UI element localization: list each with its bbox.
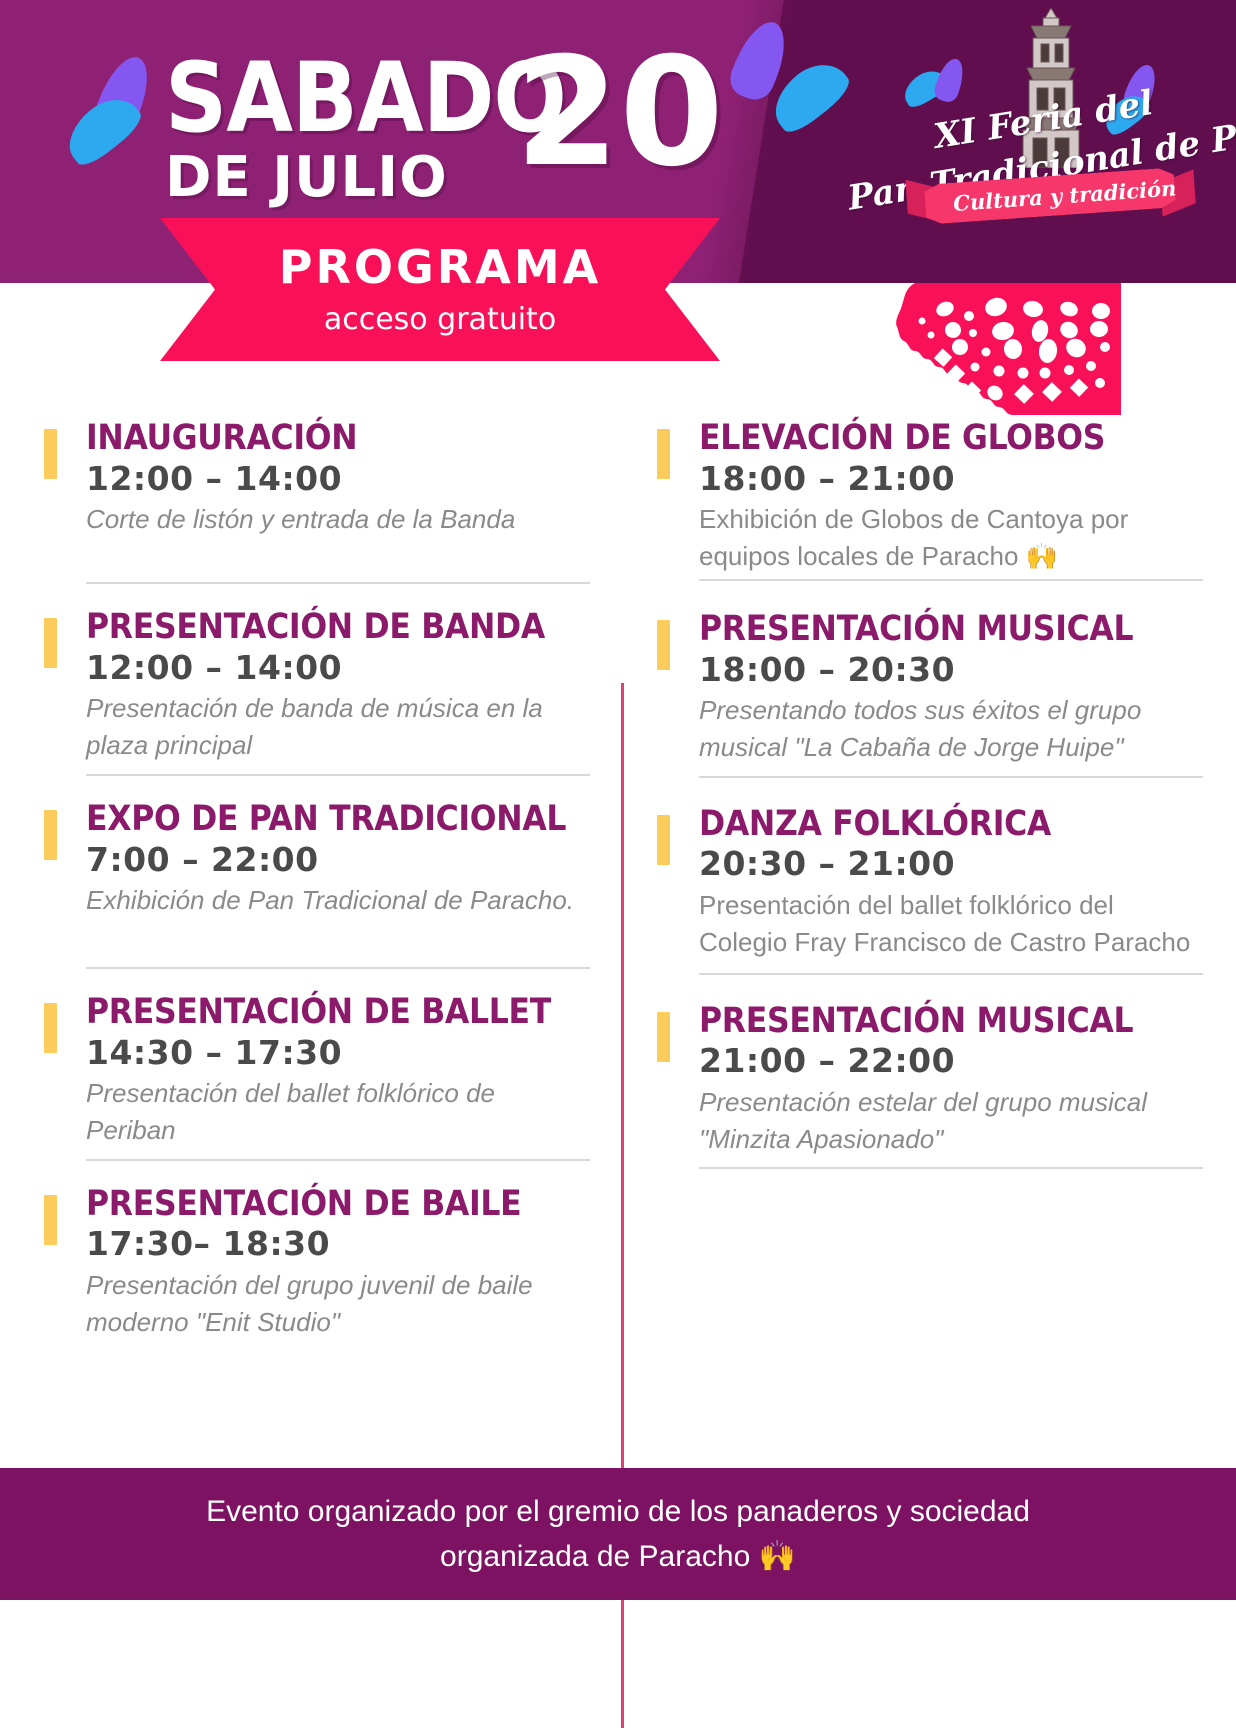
event-title: DANZA FOLKLÓRICA	[699, 806, 1203, 843]
schedule-item[interactable]: PRESENTACIÓN DE BALLET 14:30 – 17:30 Pre…	[38, 994, 590, 1149]
papel-picado-decoration	[893, 283, 1121, 415]
event-description: Presentación del grupo juvenil de baile …	[86, 1267, 584, 1341]
fair-logo: XI Feria del Pan Tradicional de Paracho …	[885, 8, 1215, 233]
accent-bar-icon	[657, 815, 670, 865]
item-separator	[86, 774, 590, 776]
schedule-board: INAUGURACIÓN 12:00 – 14:00 Corte de list…	[0, 283, 1236, 1468]
event-title: PRESENTACIÓN DE BALLET	[86, 994, 590, 1031]
accent-bar-icon	[44, 1003, 57, 1053]
schedule-column-right: ELEVACIÓN DE GLOBOS 18:00 – 21:00 Exhibi…	[651, 420, 1203, 1169]
schedule-item[interactable]: PRESENTACIÓN MUSICAL 18:00 – 20:30 Prese…	[651, 611, 1203, 766]
schedule-item[interactable]: PRESENTACIÓN DE BAILE 17:30– 18:30 Prese…	[38, 1186, 590, 1341]
event-description: Exhibición de Globos de Cantoya por equi…	[699, 501, 1197, 575]
item-separator	[86, 582, 590, 584]
item-separator	[699, 776, 1203, 778]
date-weekday: SABADO	[165, 50, 566, 146]
event-time: 12:00 – 14:00	[86, 461, 590, 497]
event-description: Exhibición de Pan Tradicional de Paracho…	[86, 882, 584, 919]
event-title: PRESENTACIÓN DE BAILE	[86, 1186, 590, 1223]
schedule-item[interactable]: INAUGURACIÓN 12:00 – 14:00 Corte de list…	[38, 420, 590, 538]
event-title: PRESENTACIÓN MUSICAL	[699, 611, 1203, 648]
event-time: 7:00 – 22:00	[86, 842, 590, 878]
programa-title: PROGRAMA	[160, 240, 720, 294]
accent-bar-icon	[44, 429, 57, 479]
event-title: EXPO DE PAN TRADICIONAL	[86, 801, 590, 838]
schedule-item[interactable]: EXPO DE PAN TRADICIONAL 7:00 – 22:00 Exh…	[38, 801, 590, 919]
event-description: Presentación de banda de música en la pl…	[86, 690, 584, 764]
event-date: SABADO 20 DE JULIO	[165, 30, 745, 210]
item-separator	[699, 1167, 1203, 1169]
event-time: 20:30 – 21:00	[699, 846, 1203, 882]
event-description: Presentación estelar del grupo musical "…	[699, 1084, 1197, 1158]
accent-bar-icon	[44, 810, 57, 860]
schedule-item[interactable]: ELEVACIÓN DE GLOBOS 18:00 – 21:00 Exhibi…	[651, 420, 1203, 575]
event-title: PRESENTACIÓN MUSICAL	[699, 1003, 1203, 1040]
event-time: 17:30– 18:30	[86, 1226, 590, 1262]
event-description: Presentación del ballet folklórico del C…	[699, 887, 1197, 961]
accent-bar-icon	[657, 1012, 670, 1062]
event-description: Presentando todos sus éxitos el grupo mu…	[699, 692, 1197, 766]
schedule-item[interactable]: DANZA FOLKLÓRICA 20:30 – 21:00 Presentac…	[651, 806, 1203, 961]
event-description: Presentación del ballet folklórico de Pe…	[86, 1075, 584, 1149]
item-separator	[699, 973, 1203, 975]
item-separator	[86, 967, 590, 969]
item-separator	[699, 579, 1203, 581]
event-description: Corte de listón y entrada de la Banda	[86, 501, 584, 538]
event-time: 18:00 – 21:00	[699, 461, 1203, 497]
event-time: 14:30 – 17:30	[86, 1035, 590, 1071]
event-time: 18:00 – 20:30	[699, 652, 1203, 688]
schedule-item[interactable]: PRESENTACIÓN MUSICAL 21:00 – 22:00 Prese…	[651, 1003, 1203, 1158]
event-title: ELEVACIÓN DE GLOBOS	[699, 420, 1203, 457]
accent-bar-icon	[657, 620, 670, 670]
event-title: PRESENTACIÓN DE BANDA	[86, 609, 590, 646]
programa-subtitle: acceso gratuito	[160, 302, 720, 337]
event-title: INAUGURACIÓN	[86, 420, 590, 457]
schedule-item[interactable]: PRESENTACIÓN DE BANDA 12:00 – 14:00 Pres…	[38, 609, 590, 764]
item-separator	[86, 1159, 590, 1161]
accent-bar-icon	[44, 618, 57, 668]
accent-bar-icon	[657, 429, 670, 479]
date-month: DE JULIO	[165, 150, 448, 206]
accent-bar-icon	[44, 1195, 57, 1245]
date-day-number: 20	[515, 38, 724, 188]
event-time: 12:00 – 14:00	[86, 650, 590, 686]
poster-footer: Evento organizado por el gremio de los p…	[0, 1468, 1236, 1600]
schedule-column-left: INAUGURACIÓN 12:00 – 14:00 Corte de list…	[38, 420, 590, 1340]
event-time: 21:00 – 22:00	[699, 1043, 1203, 1079]
footer-text: Evento organizado por el gremio de los p…	[198, 1489, 1038, 1579]
